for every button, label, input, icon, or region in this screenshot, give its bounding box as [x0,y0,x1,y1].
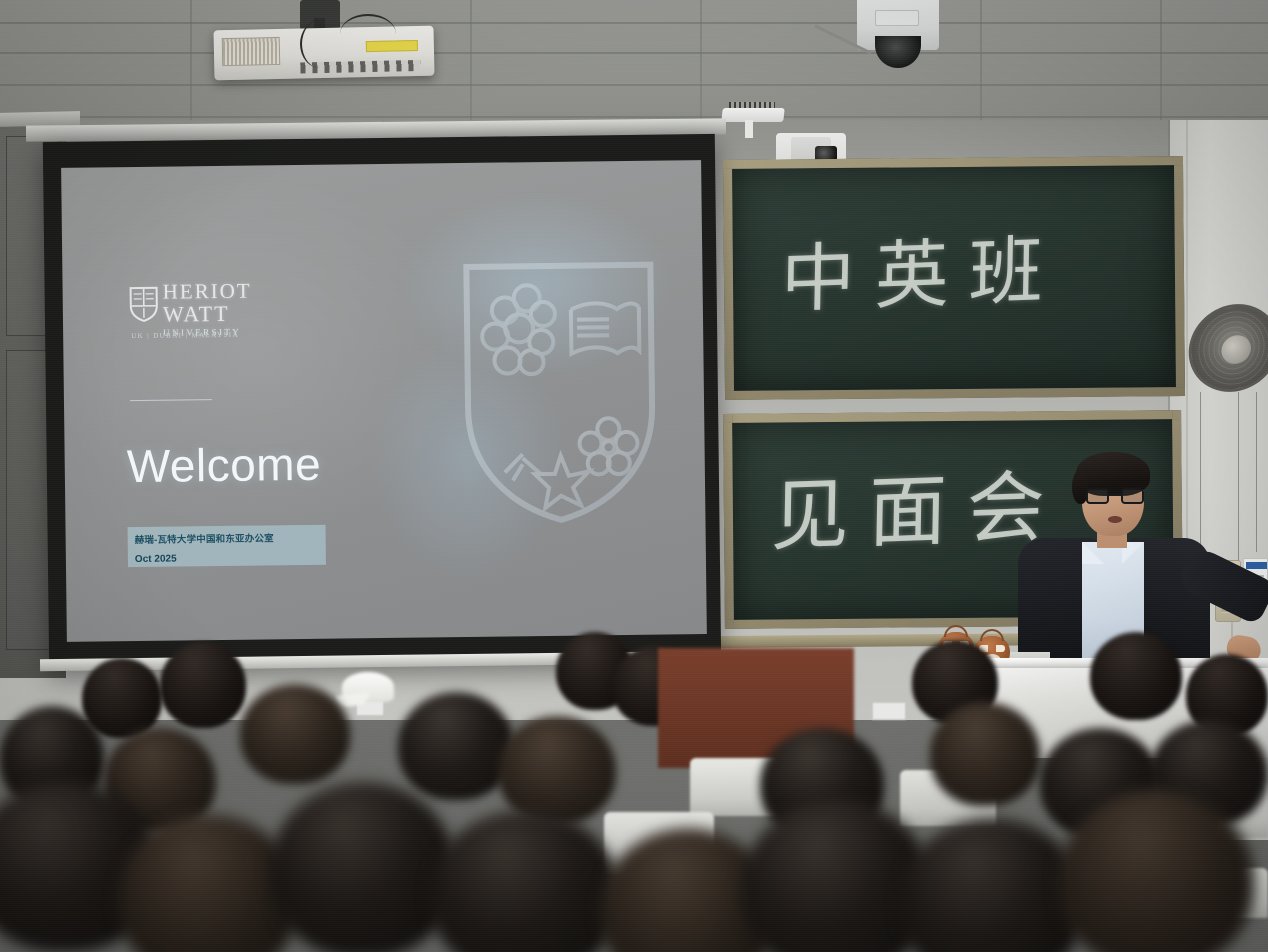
audience-head [498,716,616,824]
audience-head [398,692,514,800]
audience-head [270,782,456,952]
slide-caption-date: Oct 2025 [135,552,319,565]
audience-head [1090,632,1182,720]
slide-title: Welcome [126,437,321,493]
dome-security-camera-icon [857,0,939,50]
projector-vent [222,37,281,66]
projector-cable-2 [340,14,396,54]
audience-head [900,818,1084,952]
access-point-stem [745,120,753,138]
audience-head [240,684,350,784]
heriot-watt-logo: HERIOT WATT UNIVERSITY UK | DUBAI | MALA… [129,280,295,344]
logo-locations: UK | DUBAI | MALAYSIA [131,331,239,340]
blackboard-upper: 中英班 [723,156,1185,400]
audience [0,632,1268,952]
audience-head [430,810,620,952]
logo-line-heriot: HERIOT [163,281,252,303]
audience-head [930,702,1040,806]
audience-head [160,642,246,728]
chalk-text-upper: 中英班 [780,210,1064,327]
white-cap [342,672,394,702]
audience-head [82,658,162,738]
projector-cable [300,20,340,68]
logo-line-watt: WATT [163,303,252,326]
heriot-watt-shield-crest [458,257,661,529]
slide-divider-rule [130,399,212,401]
slide-caption-chinese: 赫瑞-瓦特大学中国和东亚办公室 [135,530,319,546]
slide-surface: HERIOT WATT UNIVERSITY UK | DUBAI | MALA… [61,160,707,642]
pull-down-projection-screen: HERIOT WATT UNIVERSITY UK | DUBAI | MALA… [43,134,721,670]
eyeglasses-icon [1086,488,1144,504]
wifi-access-point-icon [721,108,784,122]
lecture-hall-photo: 中英班 见面会 [0,0,1268,952]
slide-caption-box: 赫瑞-瓦特大学中国和东亚办公室 Oct 2025 [128,525,326,567]
logo-shield-icon [129,286,159,322]
